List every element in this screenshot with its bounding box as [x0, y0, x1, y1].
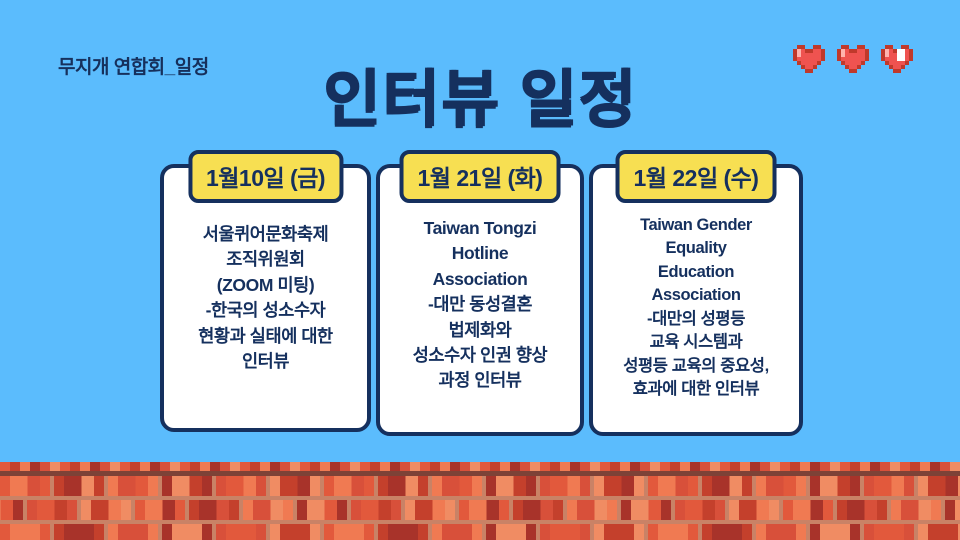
brick-tile [540, 524, 590, 540]
brick-tile [702, 476, 752, 496]
card-body-line: 조직위원회 [172, 247, 359, 272]
brick-tile [864, 476, 914, 496]
brick-tile [0, 524, 50, 540]
schedule-card-3[interactable]: 1월 22일 (수) Taiwan GenderEqualityEducatio… [589, 164, 803, 436]
brick-tile [351, 500, 401, 520]
brick-tile [810, 476, 860, 496]
card-body-line: 인터뷰 [172, 349, 359, 374]
brick-tile [783, 500, 833, 520]
card-date-badge: 1월 22일 (수) [616, 150, 777, 203]
brick-tile [702, 524, 752, 540]
brick-tile [486, 476, 536, 496]
brick-tile [162, 524, 212, 540]
brick-tile [0, 500, 23, 520]
brick-tile [864, 524, 914, 540]
card-body-line: Education [601, 261, 791, 284]
brick-tile [162, 476, 212, 496]
brick-tile [540, 476, 590, 496]
schedule-card-1[interactable]: 1월10일 (금) 서울퀴어문화축제조직위원회(ZOOM 미팅)-한국의 성소수… [160, 164, 371, 432]
brick-tile [81, 500, 131, 520]
card-body-line: -한국의 성소수자 [172, 298, 359, 323]
brick-tile [594, 524, 644, 540]
brick-tile [810, 524, 860, 540]
brick-tile [324, 524, 374, 540]
heart-highlight-3-icon [881, 45, 913, 73]
brick-row [0, 500, 960, 520]
slide-canvas: 무지개 연합회_일정 인터뷰 일정 1월10일 (금) 서울퀴어문화축제조직위원… [0, 0, 960, 540]
brick-tile [270, 476, 320, 496]
brick-tile [243, 500, 293, 520]
brick-tile [675, 500, 725, 520]
brick-tile [135, 500, 185, 520]
card-body-line: Association [388, 267, 572, 292]
card-body-line: -대만 동성결혼 [388, 292, 572, 317]
schedule-card-list: 1월10일 (금) 서울퀴어문화축제조직위원회(ZOOM 미팅)-한국의 성소수… [160, 164, 808, 436]
brick-tile [108, 524, 158, 540]
card-body-line: 성평등 교육의 중요성, [601, 355, 791, 378]
schedule-card-2[interactable]: 1월 21일 (화) Taiwan TongziHotlineAssociati… [376, 164, 584, 436]
brick-tile [27, 500, 77, 520]
brick-tile [567, 500, 617, 520]
brick-tile [891, 500, 941, 520]
brick-row [0, 524, 960, 540]
brick-tile [432, 524, 482, 540]
card-body-line: 현황과 실태에 대한 [172, 324, 359, 349]
brick-tile [594, 476, 644, 496]
card-date-badge: 1월 21일 (화) [400, 150, 561, 203]
brick-tile [729, 500, 779, 520]
card-body-text: 서울퀴어문화축제조직위원회(ZOOM 미팅)-한국의 성소수자현황과 실태에 대… [172, 222, 359, 374]
brick-tile [756, 476, 806, 496]
brick-tile [324, 476, 374, 496]
heart-meter [793, 45, 913, 73]
brick-top-cap [0, 462, 960, 471]
brick-tile [756, 524, 806, 540]
brick-tile [621, 500, 671, 520]
card-body-line: -대만의 성평등 [601, 308, 791, 331]
brick-tile [405, 500, 455, 520]
brick-tile [837, 500, 887, 520]
brick-row [0, 476, 960, 496]
brick-tile [648, 524, 698, 540]
brick-tile [216, 524, 266, 540]
card-body-line: 과정 인터뷰 [388, 368, 572, 393]
card-body-line: 법제화와 [388, 318, 572, 343]
brick-tile [216, 476, 266, 496]
card-body-line: Hotline [388, 241, 572, 266]
brick-tile [297, 500, 347, 520]
brick-tile [918, 524, 960, 540]
card-body-line: Equality [601, 237, 791, 260]
card-body-text: Taiwan GenderEqualityEducationAssociatio… [601, 214, 791, 401]
card-body-line: 서울퀴어문화축제 [172, 222, 359, 247]
brick-tile [0, 476, 50, 496]
brick-tile [459, 500, 509, 520]
brick-tile [54, 524, 104, 540]
card-body-line: Association [601, 284, 791, 307]
card-date-badge: 1월10일 (금) [188, 150, 343, 203]
card-body-line: (ZOOM 미팅) [172, 273, 359, 298]
card-body-line: Taiwan Tongzi [388, 216, 572, 241]
card-body-text: Taiwan TongziHotlineAssociation-대만 동성결혼법… [388, 216, 572, 394]
card-body-line: 교육 시스템과 [601, 331, 791, 354]
brick-tile [378, 476, 428, 496]
card-body-line: 효과에 대한 인터뷰 [601, 378, 791, 401]
pixel-brick-floor [0, 462, 960, 540]
card-body-line: 성소수자 인권 향상 [388, 343, 572, 368]
brick-tile [432, 476, 482, 496]
brick-tile [513, 500, 563, 520]
brick-tile [945, 500, 960, 520]
brick-tile [648, 476, 698, 496]
brick-tile [270, 524, 320, 540]
brick-tile [108, 476, 158, 496]
brick-tile [918, 476, 960, 496]
brick-tile [378, 524, 428, 540]
brick-tile [189, 500, 239, 520]
heart-full-2-icon [837, 45, 869, 73]
card-body-line: Taiwan Gender [601, 214, 791, 237]
heart-full-1-icon [793, 45, 825, 73]
brick-tile [486, 524, 536, 540]
brick-tile [54, 476, 104, 496]
